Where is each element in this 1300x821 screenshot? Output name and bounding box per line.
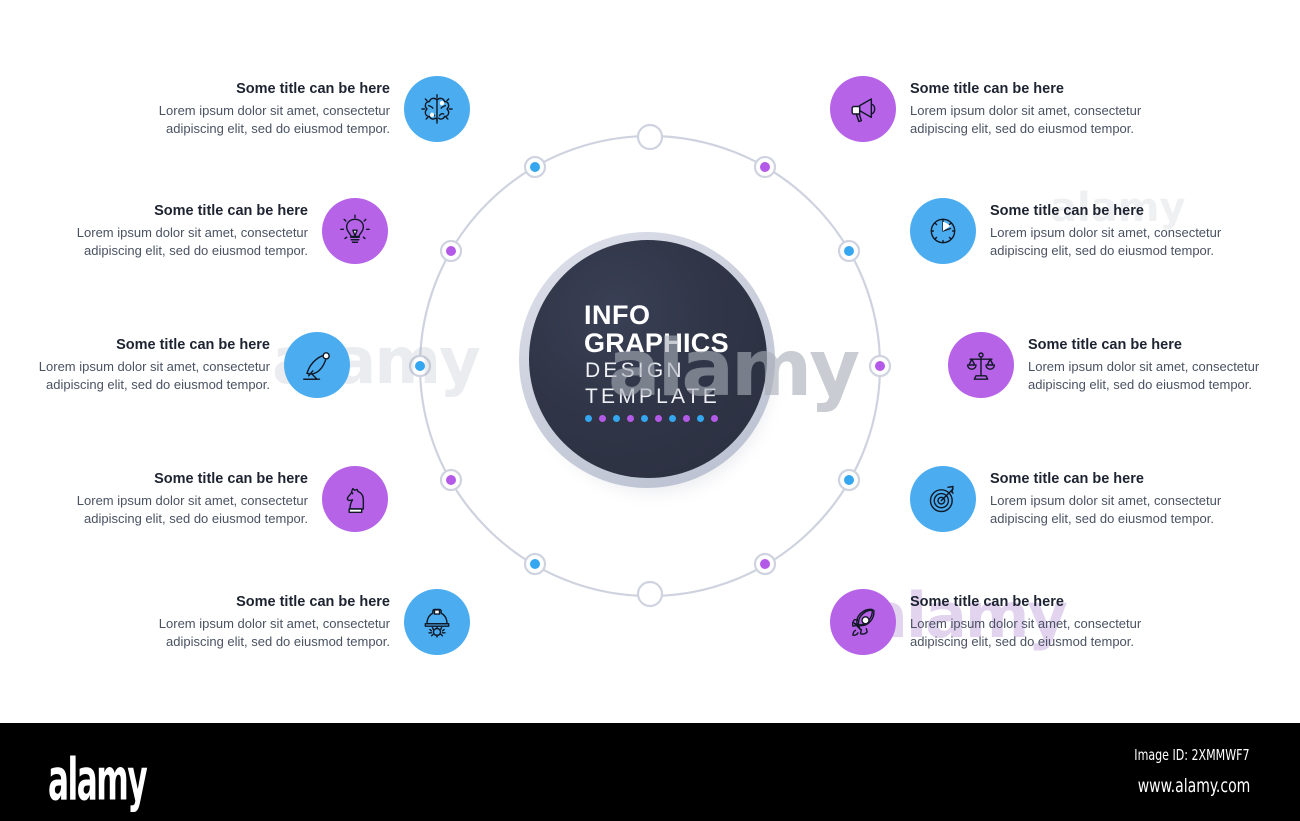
info-item-scales[interactable]: Some title can be hereLorem ipsum dolor … — [948, 332, 1268, 398]
info-item-satellite[interactable]: Some title can be hereLorem ipsum dolor … — [30, 332, 350, 398]
info-item-text-rocket: Some title can be hereLorem ipsum dolor … — [910, 593, 1150, 650]
brain-icon[interactable] — [404, 76, 470, 142]
center-dot-1 — [599, 415, 606, 422]
info-item-text-hardhat: Some title can be hereLorem ipsum dolor … — [150, 593, 390, 650]
center-dot-row — [585, 415, 718, 422]
info-item-knight[interactable]: Some title can be hereLorem ipsum dolor … — [68, 466, 388, 532]
node-upper-right-dot — [760, 162, 770, 172]
infographic-canvas: INFO GRAPHICS DESIGN TEMPLATE alamy alam… — [0, 0, 1300, 723]
info-item-description: Lorem ipsum dolor sit amet, consectetur … — [68, 492, 308, 528]
info-item-text-lightbulb: Some title can be hereLorem ipsum dolor … — [68, 202, 308, 259]
lightbulb-icon[interactable] — [322, 198, 388, 264]
alamy-logo: alamy — [48, 747, 146, 814]
info-item-target[interactable]: Some title can be hereLorem ipsum dolor … — [910, 466, 1230, 532]
center-subtitle-line2: TEMPLATE — [585, 384, 720, 410]
center-dot-6 — [669, 415, 676, 422]
info-item-description: Lorem ipsum dolor sit amet, consectetur … — [910, 102, 1150, 138]
node-top[interactable] — [638, 125, 662, 149]
info-item-title: Some title can be here — [990, 202, 1230, 221]
info-item-title: Some title can be here — [910, 80, 1150, 99]
center-dot-4 — [641, 415, 648, 422]
info-item-description: Lorem ipsum dolor sit amet, consectetur … — [150, 102, 390, 138]
info-item-title: Some title can be here — [150, 593, 390, 612]
node-left-mid-dot — [415, 361, 425, 371]
info-item-text-clock: Some title can be hereLorem ipsum dolor … — [990, 202, 1230, 259]
center-dot-2 — [613, 415, 620, 422]
info-item-description: Lorem ipsum dolor sit amet, consectetur … — [910, 615, 1150, 651]
info-item-text-scales: Some title can be hereLorem ipsum dolor … — [1028, 336, 1268, 393]
node-right-upper-dot — [844, 246, 854, 256]
center-dot-0 — [585, 415, 592, 422]
clock-icon[interactable] — [910, 198, 976, 264]
node-left-upper-dot — [446, 246, 456, 256]
node-bottom[interactable] — [638, 582, 662, 606]
info-item-description: Lorem ipsum dolor sit amet, consectetur … — [30, 358, 270, 394]
node-lower-left-dot — [530, 559, 540, 569]
info-item-rocket[interactable]: Some title can be hereLorem ipsum dolor … — [830, 589, 1150, 655]
info-item-description: Lorem ipsum dolor sit amet, consectetur … — [990, 224, 1230, 260]
node-upper-left-dot — [530, 162, 540, 172]
center-medallion: INFO GRAPHICS DESIGN TEMPLATE — [516, 232, 786, 502]
info-item-text-target: Some title can be hereLorem ipsum dolor … — [990, 470, 1230, 527]
rocket-icon[interactable] — [830, 589, 896, 655]
center-dot-8 — [697, 415, 704, 422]
center-title-line1: INFO — [584, 302, 651, 330]
info-item-title: Some title can be here — [68, 470, 308, 489]
center-subtitle-line1: DESIGN — [585, 358, 685, 384]
alamy-footer-bar: alamy Image ID: 2XMMWF7 www.alamy.com — [0, 723, 1300, 821]
info-item-title: Some title can be here — [68, 202, 308, 221]
node-right-mid-dot — [875, 361, 885, 371]
medallion-text: INFO GRAPHICS DESIGN TEMPLATE — [529, 240, 767, 478]
center-dot-9 — [711, 415, 718, 422]
info-item-title: Some title can be here — [1028, 336, 1268, 355]
info-item-title: Some title can be here — [150, 80, 390, 99]
image-id-label: Image ID: 2XMMWF7 — [1135, 746, 1250, 764]
info-item-text-megaphone: Some title can be hereLorem ipsum dolor … — [910, 80, 1150, 137]
center-dot-3 — [627, 415, 634, 422]
info-item-brain[interactable]: Some title can be hereLorem ipsum dolor … — [150, 76, 470, 142]
info-item-description: Lorem ipsum dolor sit amet, consectetur … — [68, 224, 308, 260]
info-item-description: Lorem ipsum dolor sit amet, consectetur … — [150, 615, 390, 651]
medallion-disc: INFO GRAPHICS DESIGN TEMPLATE — [529, 240, 767, 478]
center-dot-5 — [655, 415, 662, 422]
node-lower-right-dot — [760, 559, 770, 569]
info-item-lightbulb[interactable]: Some title can be hereLorem ipsum dolor … — [68, 198, 388, 264]
info-item-text-brain: Some title can be hereLorem ipsum dolor … — [150, 80, 390, 137]
alamy-url-label: www.alamy.com — [1137, 775, 1250, 797]
info-item-text-satellite: Some title can be hereLorem ipsum dolor … — [30, 336, 270, 393]
center-title-line2: GRAPHICS — [584, 329, 729, 357]
node-left-lower-dot — [446, 475, 456, 485]
info-item-clock[interactable]: Some title can be hereLorem ipsum dolor … — [910, 198, 1230, 264]
info-item-hardhat[interactable]: Some title can be hereLorem ipsum dolor … — [150, 589, 470, 655]
info-item-description: Lorem ipsum dolor sit amet, consectetur … — [1028, 358, 1268, 394]
info-item-text-knight: Some title can be hereLorem ipsum dolor … — [68, 470, 308, 527]
info-item-megaphone[interactable]: Some title can be hereLorem ipsum dolor … — [830, 76, 1150, 142]
info-item-title: Some title can be here — [910, 593, 1150, 612]
hardhat-gear-icon[interactable] — [404, 589, 470, 655]
info-item-title: Some title can be here — [30, 336, 270, 355]
megaphone-icon[interactable] — [830, 76, 896, 142]
info-item-description: Lorem ipsum dolor sit amet, consectetur … — [990, 492, 1230, 528]
info-item-title: Some title can be here — [990, 470, 1230, 489]
center-dot-7 — [683, 415, 690, 422]
chess-knight-icon[interactable] — [322, 466, 388, 532]
balance-scales-icon[interactable] — [948, 332, 1014, 398]
node-right-lower-dot — [844, 475, 854, 485]
target-arrow-icon[interactable] — [910, 466, 976, 532]
satellite-dish-icon[interactable] — [284, 332, 350, 398]
